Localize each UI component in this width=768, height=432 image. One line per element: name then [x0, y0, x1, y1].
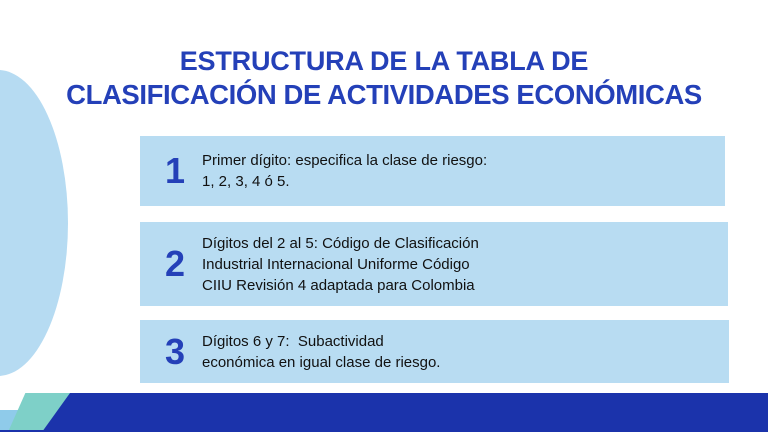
decorative-blue-footer-bar	[42, 393, 768, 432]
item-description: Dígitos 6 y 7: Subactividad económica en…	[202, 331, 729, 373]
page-title: ESTRUCTURA DE LA TABLA DE CLASIFICACIÓN …	[0, 44, 768, 112]
item-description-line: Dígitos del 2 al 5: Código de Clasificac…	[202, 233, 718, 254]
list-item: 1 Primer dígito: especifica la clase de …	[140, 136, 725, 206]
item-description-line: Dígitos 6 y 7: Subactividad	[202, 331, 719, 352]
item-description-line: Industrial Internacional Uniforme Código	[202, 254, 718, 275]
list-item: 2 Dígitos del 2 al 5: Código de Clasific…	[140, 222, 728, 306]
item-description: Primer dígito: especifica la clase de ri…	[202, 150, 725, 192]
item-description-line: CIIU Revisión 4 adaptada para Colombia	[202, 275, 718, 296]
item-description-line: económica en igual clase de riesgo.	[202, 352, 719, 373]
item-description-line: Primer dígito: especifica la clase de ri…	[202, 150, 715, 171]
content-box-list: 1 Primer dígito: especifica la clase de …	[140, 136, 730, 383]
item-number-badge: 2	[140, 246, 202, 282]
item-description: Dígitos del 2 al 5: Código de Clasificac…	[202, 233, 728, 296]
item-number-badge: 1	[140, 153, 202, 189]
page-title-line-2: CLASIFICACIÓN DE ACTIVIDADES ECONÓMICAS	[0, 78, 768, 112]
list-item: 3 Dígitos 6 y 7: Subactividad económica …	[140, 320, 729, 383]
item-number-badge: 3	[140, 334, 202, 370]
slide-canvas: ESTRUCTURA DE LA TABLA DE CLASIFICACIÓN …	[0, 0, 768, 432]
page-title-line-1: ESTRUCTURA DE LA TABLA DE	[0, 44, 768, 78]
item-description-line: 1, 2, 3, 4 ó 5.	[202, 171, 715, 192]
decorative-ellipse-left	[0, 70, 68, 376]
